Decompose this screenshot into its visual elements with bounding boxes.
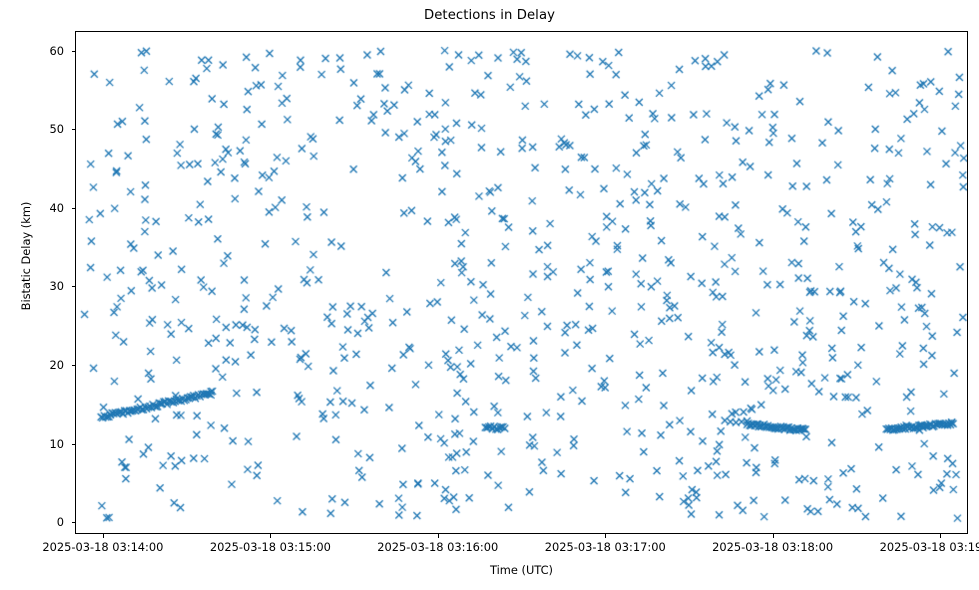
x-tick-mark xyxy=(940,534,941,538)
y-tick-mark xyxy=(72,522,76,523)
y-tick-mark xyxy=(72,286,76,287)
x-tick-label: 2025-03-18 03:14:00 xyxy=(42,540,163,554)
y-tick-label: 0 xyxy=(0,515,64,529)
x-tick-mark xyxy=(438,534,439,538)
y-tick-label: 10 xyxy=(0,437,64,451)
page-title: Detections in Delay xyxy=(0,8,979,23)
x-tick-label: 2025-03-18 03:16:00 xyxy=(377,540,498,554)
x-tick-mark xyxy=(605,534,606,538)
y-tick-mark xyxy=(72,444,76,445)
y-tick-mark xyxy=(72,365,76,366)
y-axis-label: Bistatic Delay (km) xyxy=(19,116,33,396)
y-tick-mark xyxy=(72,208,76,209)
y-tick-mark xyxy=(72,129,76,130)
matplotlib-figure: Detections in Delay 2025-03-18 03:14:002… xyxy=(0,0,979,590)
x-axis-label: Time (UTC) xyxy=(75,563,968,577)
y-tick-mark xyxy=(72,51,76,52)
scatter-plot-canvas xyxy=(76,32,967,533)
x-tick-label: 2025-03-18 03:15:00 xyxy=(210,540,331,554)
x-tick-label: 2025-03-18 03:19:00 xyxy=(880,540,979,554)
plot-axes xyxy=(75,31,968,534)
x-tick-mark xyxy=(270,534,271,538)
y-tick-label: 60 xyxy=(0,44,64,58)
x-tick-label: 2025-03-18 03:17:00 xyxy=(545,540,666,554)
x-tick-mark xyxy=(773,534,774,538)
x-tick-label: 2025-03-18 03:18:00 xyxy=(712,540,833,554)
x-tick-mark xyxy=(103,534,104,538)
